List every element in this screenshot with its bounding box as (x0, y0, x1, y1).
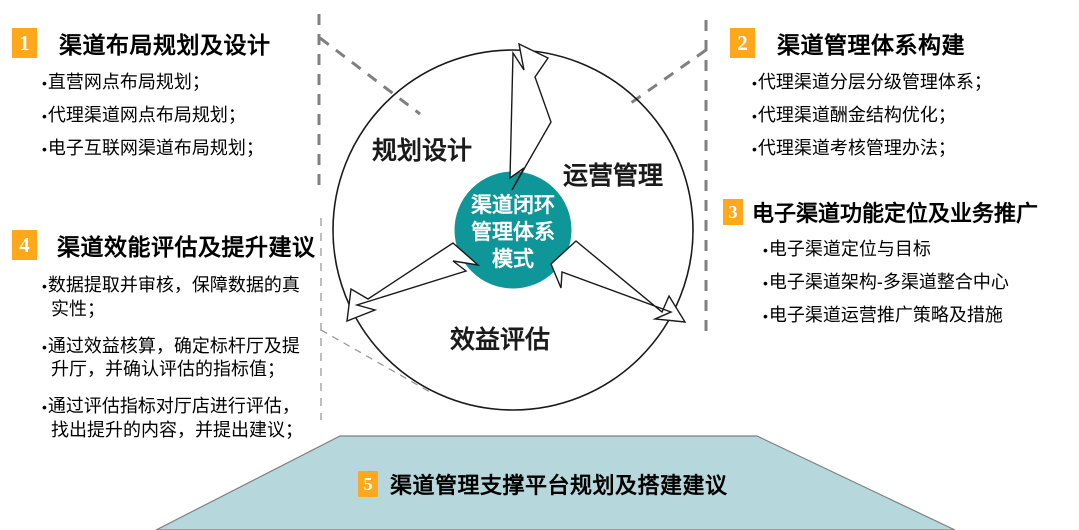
section-2-header: 2 渠道管理体系构建 (730, 26, 992, 60)
section-3-number-badge: 3 (723, 199, 743, 225)
cycle-arrow-up (510, 44, 551, 190)
section-3-bullet-list: 电子渠道定位与目标 电子渠道架构-多渠道整合中心 电子渠道运营推广策略及措施 (763, 238, 1038, 327)
list-item: 电子渠道架构-多渠道整合中心 (763, 271, 1038, 295)
list-item: 电子渠道定位与目标 (763, 238, 1038, 262)
section-4-title: 渠道效能评估及提升建议 (57, 228, 316, 262)
list-item: 电子互联网渠道布局规划； (42, 137, 271, 161)
section-3: 3 电子渠道功能定位及业务推广 电子渠道定位与目标 电子渠道架构-多渠道整合中心… (723, 196, 1038, 336)
section-1-bullet-list: 直营网点布局规划； 代理渠道网点布局规划； 电子互联网渠道布局规划； (42, 71, 271, 160)
section-2-bullet-list: 代理渠道分层分级管理体系； 代理渠道酬金结构优化； 代理渠道考核管理办法； (752, 71, 992, 160)
core-label: 渠道闭环 管理体系 模式 (455, 192, 571, 273)
section-2-title: 渠道管理体系构建 (777, 26, 965, 60)
list-item: 直营网点布局规划； (42, 71, 271, 95)
core-label-line2: 管理体系 (455, 219, 571, 246)
cycle-arrow-right (551, 241, 685, 322)
section-3-title: 电子渠道功能定位及业务推广 (752, 196, 1038, 228)
ring-label-planning: 规划设计 (372, 131, 472, 167)
banner-label: 5 渠道管理支撑平台规划及搭建建议 (358, 468, 728, 500)
list-item: 代理渠道酬金结构优化； (752, 104, 992, 128)
list-item: 通过效益核算，确定标杆厅及提升厅，并确认评估的指标值； (42, 335, 314, 383)
connector-bottom-left (321, 330, 430, 392)
diagram-canvas: 规划设计 运营管理 效益评估 渠道闭环 管理体系 模式 1 渠道布局规划及设计 … (0, 0, 1079, 530)
list-item: 代理渠道分层分级管理体系； (752, 71, 992, 95)
list-item: 数据提取并审核，保障数据的真实性； (42, 274, 314, 322)
core-label-line3: 模式 (455, 246, 571, 273)
list-item: 通过评估指标对厅店进行评估，找出提升的内容，并提出建议； (42, 395, 314, 443)
section-4-number-badge: 4 (12, 230, 37, 260)
list-item: 代理渠道网点布局规划； (42, 104, 271, 128)
ring-label-operations: 运营管理 (563, 156, 663, 192)
banner-title: 渠道管理支撑平台规划及搭建建议 (390, 468, 728, 500)
banner-number-badge: 5 (358, 471, 378, 497)
section-2-number-badge: 2 (730, 28, 755, 58)
section-2: 2 渠道管理体系构建 代理渠道分层分级管理体系； 代理渠道酬金结构优化； 代理渠… (730, 26, 992, 169)
list-item: 电子渠道运营推广策略及措施 (763, 304, 1038, 328)
ring-label-evaluation: 效益评估 (450, 320, 550, 356)
list-item: 代理渠道考核管理办法； (752, 137, 992, 161)
section-4-bullet-list: 数据提取并审核，保障数据的真实性； 通过效益核算，确定标杆厅及提升厅，并确认评估… (42, 274, 314, 443)
section-4: 4 渠道效能评估及提升建议 数据提取并审核，保障数据的真实性； 通过效益核算，确… (12, 228, 316, 456)
section-1-header: 1 渠道布局规划及设计 (12, 26, 271, 60)
section-1: 1 渠道布局规划及设计 直营网点布局规划； 代理渠道网点布局规划； 电子互联网渠… (12, 26, 271, 169)
section-3-header: 3 电子渠道功能定位及业务推广 (723, 196, 1038, 228)
core-label-line1: 渠道闭环 (455, 192, 571, 219)
connector-top-right (628, 50, 706, 105)
section-4-header: 4 渠道效能评估及提升建议 (12, 228, 316, 262)
section-1-title: 渠道布局规划及设计 (59, 26, 271, 60)
connector-top-left (320, 38, 420, 114)
section-1-number-badge: 1 (12, 28, 37, 58)
